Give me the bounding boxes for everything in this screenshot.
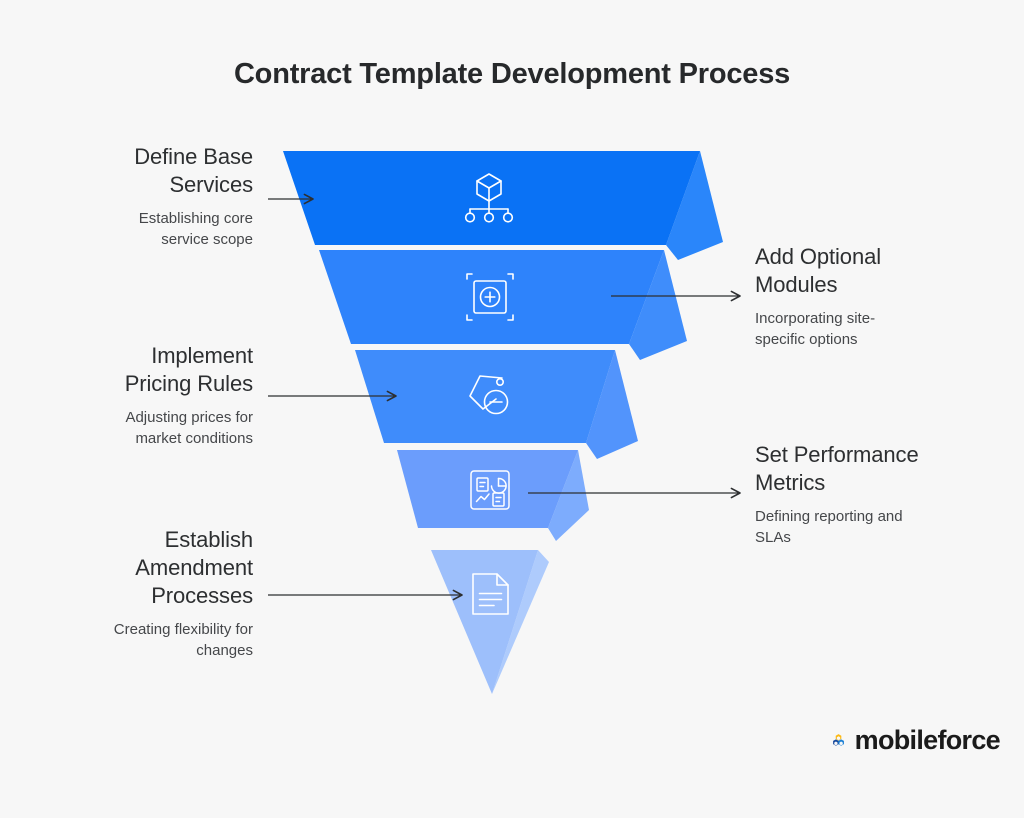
- label-stage-2-title: Add Optional Modules: [755, 243, 985, 299]
- label-stage-3: Implement Pricing Rules Adjusting prices…: [35, 342, 253, 449]
- label-stage-1: Define Base Services Establishing core s…: [35, 143, 253, 250]
- brand-logo-wordmark: mobileforce: [855, 727, 1000, 756]
- label-stage-2: Add Optional Modules Incorporating site-…: [755, 243, 985, 350]
- add-module-frame-icon: [467, 274, 513, 320]
- label-stage-3-title: Implement Pricing Rules: [35, 342, 253, 398]
- funnel-stage-2[interactable]: [319, 250, 687, 360]
- label-stage-5-title: Establish Amendment Processes: [35, 526, 253, 610]
- label-stage-1-title: Define Base Services: [35, 143, 253, 199]
- mobileforce-hexagon-logo: [832, 721, 848, 761]
- funnel-stage-5[interactable]: [431, 550, 549, 694]
- label-stage-4: Set Performance Metrics Defining reporti…: [755, 441, 985, 548]
- label-stage-4-desc: Defining reporting and SLAs: [755, 506, 985, 548]
- funnel-stage-4[interactable]: [397, 450, 589, 541]
- brand-logo[interactable]: mobileforce: [832, 718, 1000, 764]
- label-stage-5: Establish Amendment Processes Creating f…: [35, 526, 253, 661]
- label-stage-1-desc: Establishing core service scope: [35, 208, 253, 250]
- funnel-stage-3[interactable]: [355, 350, 638, 459]
- label-stage-3-desc: Adjusting prices for market conditions: [35, 407, 253, 449]
- label-stage-2-desc: Incorporating site- specific options: [755, 308, 985, 350]
- funnel-stage-1-front-face: [283, 151, 700, 245]
- funnel-stage-1[interactable]: [283, 151, 723, 260]
- infographic-canvas: Contract Template Development Process: [0, 0, 1024, 818]
- label-stage-4-title: Set Performance Metrics: [755, 441, 985, 497]
- label-stage-5-desc: Creating flexibility for changes: [35, 619, 253, 661]
